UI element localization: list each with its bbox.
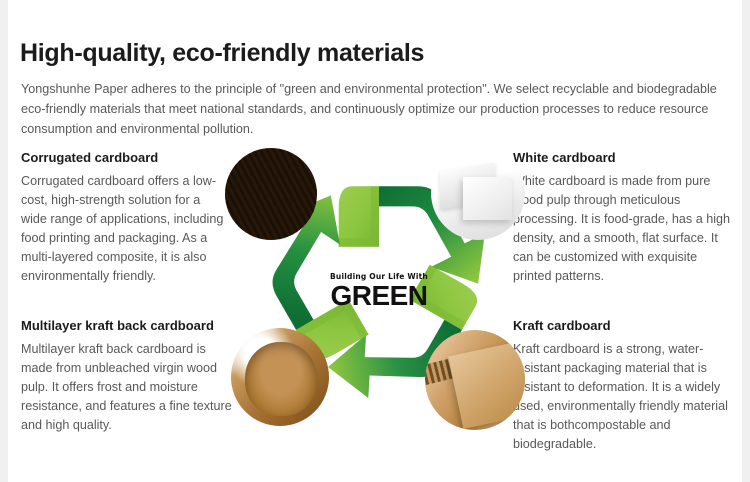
material-block-multilayer-kraft-back-cardboard: Multilayer kraft back cardboard Multilay…	[21, 318, 233, 435]
material-heading-multilayer-kraft-back-cardboard: Multilayer kraft back cardboard	[21, 318, 233, 333]
material-block-kraft-cardboard: Kraft cardboard Kraft cardboard is a str…	[513, 318, 735, 454]
material-block-white-cardboard: White cardboard White cardboard is made …	[513, 150, 731, 286]
corrugated-cardboard-photo	[225, 148, 317, 240]
material-body-kraft-cardboard: Kraft cardboard is a strong, water-resis…	[513, 340, 735, 454]
intro-paragraph: Yongshunhe Paper adheres to the principl…	[21, 79, 731, 139]
material-body-multilayer-kraft-back-cardboard: Multilayer kraft back cardboard is made …	[21, 340, 233, 435]
material-body-white-cardboard: White cardboard is made from pure wood p…	[513, 172, 731, 286]
material-block-corrugated-cardboard: Corrugated cardboard Corrugated cardboar…	[21, 150, 226, 286]
material-heading-kraft-cardboard: Kraft cardboard	[513, 318, 735, 333]
recycle-diagram: Building Our Life With GREEN	[213, 138, 543, 448]
kraft-cardboard-photo	[425, 330, 525, 430]
material-body-corrugated-cardboard: Corrugated cardboard offers a low-cost, …	[21, 172, 226, 286]
page-title: High-quality, eco-friendly materials	[20, 39, 424, 68]
material-heading-corrugated-cardboard: Corrugated cardboard	[21, 150, 226, 165]
white-cardboard-photo	[431, 146, 525, 240]
kraft-roll-photo	[231, 328, 329, 426]
material-heading-white-cardboard: White cardboard	[513, 150, 731, 165]
content-page: High-quality, eco-friendly materials Yon…	[8, 0, 742, 482]
